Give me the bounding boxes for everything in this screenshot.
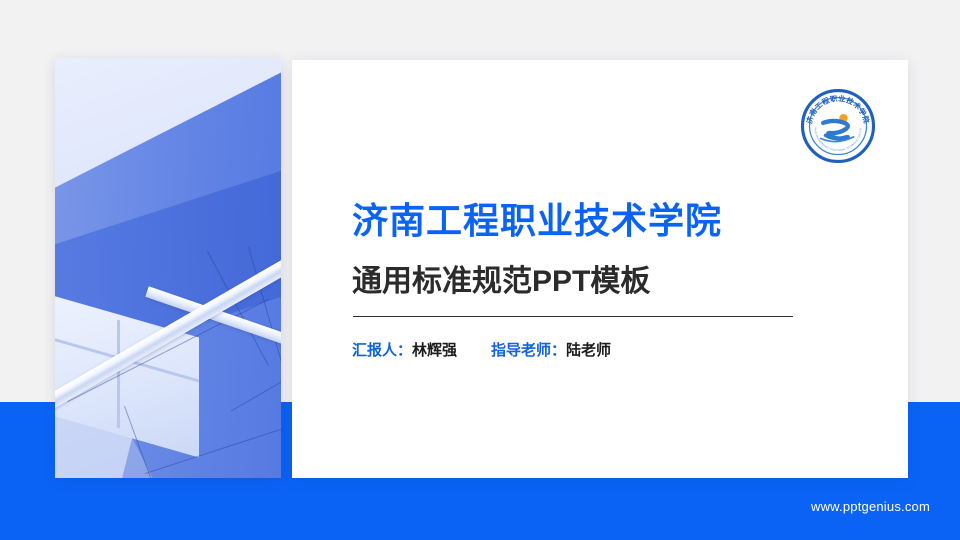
college-logo: 济南工程职业技术学院 JINAN ENGINEERING VOCATIONAL … bbox=[799, 87, 877, 165]
presenter-name: 林辉强 bbox=[412, 342, 457, 359]
presentation-slide: 济南工程职业技术学院 JINAN ENGINEERING VOCATIONAL … bbox=[0, 0, 960, 540]
advisor-name: 陆老师 bbox=[566, 342, 611, 359]
title-divider bbox=[353, 316, 793, 317]
page-title: 济南工程职业技术学院 bbox=[352, 192, 722, 244]
byline: 汇报人：林辉强指导老师：陆老师 bbox=[352, 339, 611, 360]
cover-photo bbox=[55, 58, 281, 478]
presenter-label: 汇报人： bbox=[352, 342, 412, 359]
site-url[interactable]: www.pptgenius.com bbox=[811, 499, 930, 514]
page-subtitle: 通用标准规范PPT模板 bbox=[352, 256, 650, 300]
advisor-label: 指导老师： bbox=[491, 342, 566, 359]
